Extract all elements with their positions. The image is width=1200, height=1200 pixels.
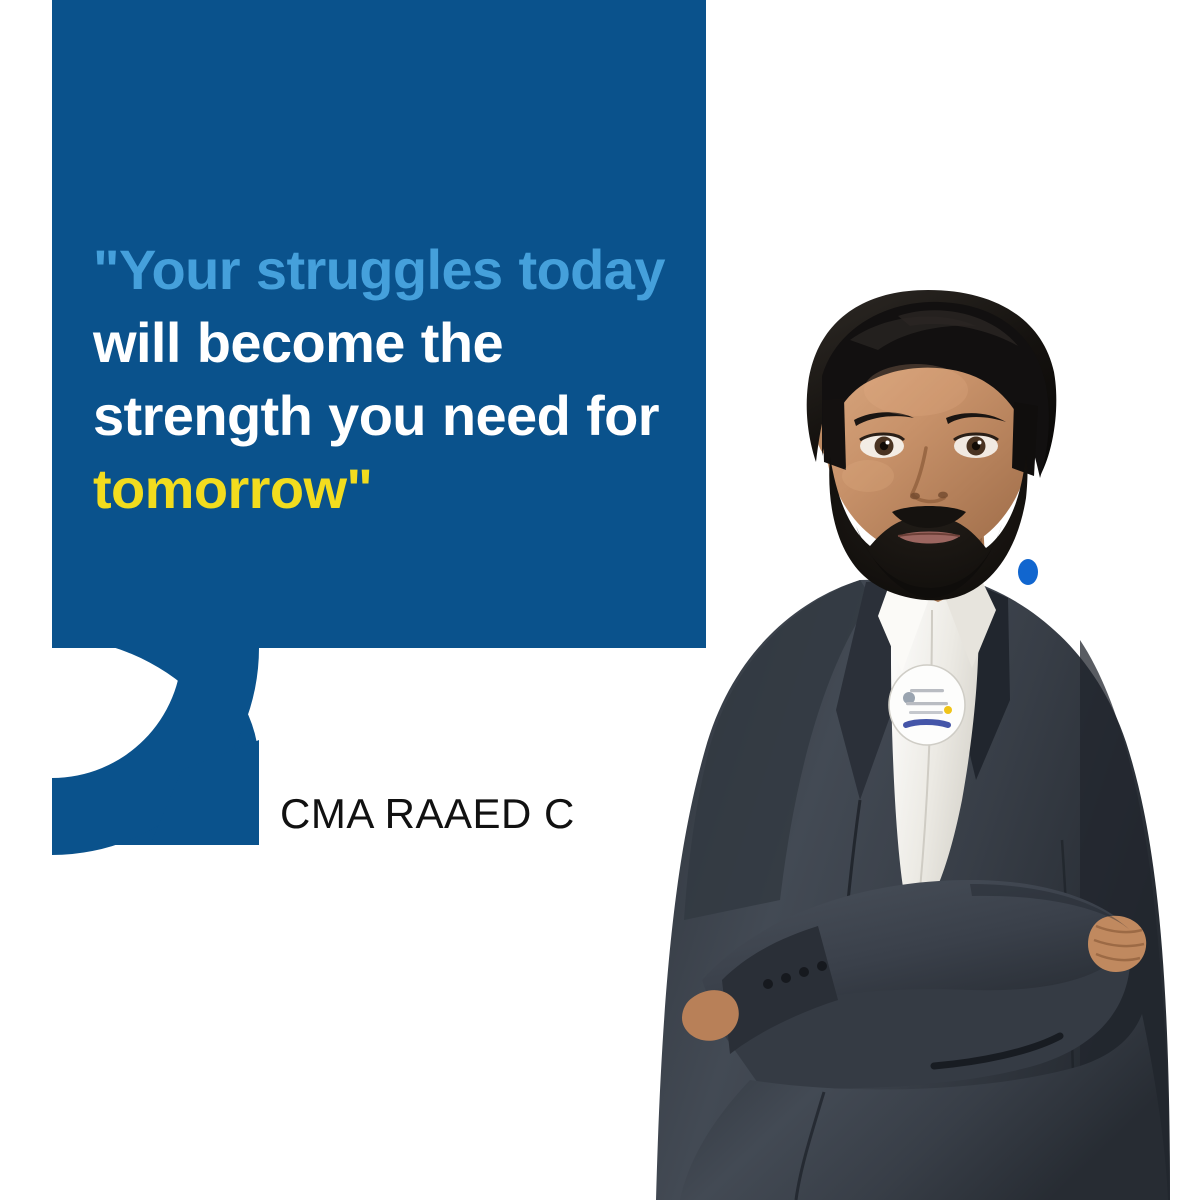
- bubble-tail-tip: [150, 740, 259, 845]
- quote-text: "Your struggles today will become the st…: [93, 233, 693, 525]
- nostril-right: [938, 492, 948, 499]
- speaker-name: CMA RAAED C: [280, 790, 575, 838]
- nostril-left: [910, 493, 920, 500]
- hair-sideburn-left: [822, 398, 846, 470]
- hand-right: [1088, 916, 1146, 972]
- cheek-highlight: [842, 460, 894, 492]
- portrait-photo: [610, 280, 1200, 1200]
- eye-left: [860, 434, 904, 458]
- lapel-badge: [889, 665, 965, 745]
- portrait-illustration: [610, 280, 1200, 1200]
- collar-pin-icon: [1018, 559, 1038, 585]
- quote-segment-yellow: tomorrow": [93, 457, 372, 520]
- quote-segment-accent: "Your struggles today: [93, 238, 665, 301]
- eye-right: [954, 434, 998, 458]
- bubble-tail-ring: [52, 648, 259, 855]
- bubble-tail-cutout: [182, 648, 259, 772]
- bubble-tail-arc: [52, 638, 259, 845]
- poster-canvas: "Your struggles today will become the st…: [0, 0, 1200, 1200]
- bubble-tail: [52, 648, 259, 845]
- forehead-highlight: [864, 364, 968, 416]
- head: [807, 290, 1057, 600]
